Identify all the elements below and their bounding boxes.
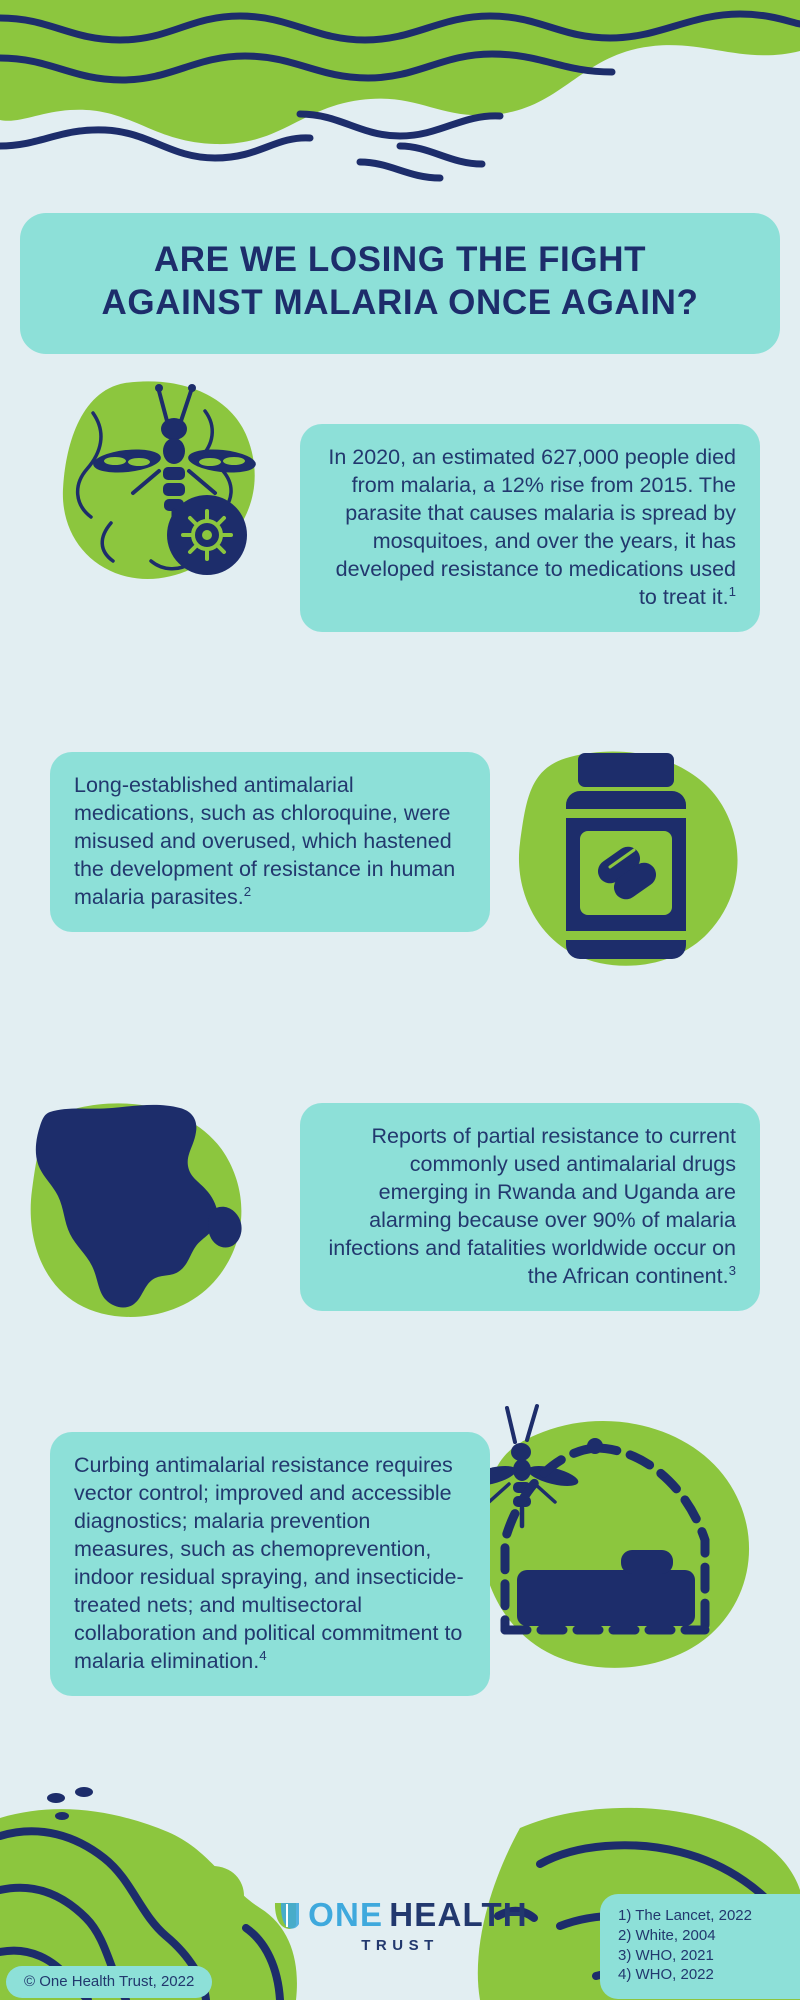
text-card-curbing: Curbing antimalarial resistance requires… (50, 1432, 490, 1696)
section-text-africa: Reports of partial resistance to current… (328, 1124, 736, 1288)
citation-item: 1) The Lancet, 2022 (618, 1906, 784, 1926)
logo-trust-text: TRUST (255, 1937, 545, 1954)
infographic-page: ARE WE LOSING THE FIGHT AGAINST MALARIA … (0, 0, 800, 2000)
section-text-chloroquine: Long-established antimalarial medication… (74, 773, 455, 909)
copyright-badge: © One Health Trust, 2022 (6, 1966, 212, 1998)
citation-item: 4) WHO, 2022 (618, 1965, 784, 1985)
section-text-deaths: In 2020, an estimated 627,000 people die… (328, 445, 736, 609)
citation-marker-1: 1 (729, 584, 736, 599)
text-card-deaths: In 2020, an estimated 627,000 people die… (300, 424, 760, 632)
title-card: ARE WE LOSING THE FIGHT AGAINST MALARIA … (20, 213, 780, 354)
title-line-2: AGAINST MALARIA ONCE AGAIN? (50, 282, 750, 325)
title-line-1: ARE WE LOSING THE FIGHT (50, 239, 750, 282)
text-card-africa: Reports of partial resistance to current… (300, 1103, 760, 1311)
citation-marker-3: 3 (729, 1263, 736, 1278)
logo-one-text: ONE (308, 1898, 383, 1931)
leaf-logo-icon (272, 1899, 302, 1931)
bed-net-icon (455, 1390, 775, 1680)
top-decoration (0, 0, 800, 196)
citation-marker-4: 4 (259, 1647, 266, 1662)
logo-health-text: HEALTH (389, 1898, 528, 1931)
mosquito-icon (55, 375, 305, 600)
citation-item: 2) White, 2004 (618, 1926, 784, 1946)
citations-list: 1) The Lancet, 2022 2) White, 2004 3) WH… (600, 1894, 800, 1999)
pill-bottle-icon (500, 735, 770, 980)
text-card-chloroquine: Long-established antimalarial medication… (50, 752, 490, 932)
africa-map-icon (20, 1090, 285, 1325)
footer-logo: ONEHEALTH TRUST (255, 1898, 545, 1954)
section-text-curbing: Curbing antimalarial resistance requires… (74, 1453, 464, 1673)
citation-marker-2: 2 (244, 884, 251, 899)
citation-item: 3) WHO, 2021 (618, 1946, 784, 1966)
